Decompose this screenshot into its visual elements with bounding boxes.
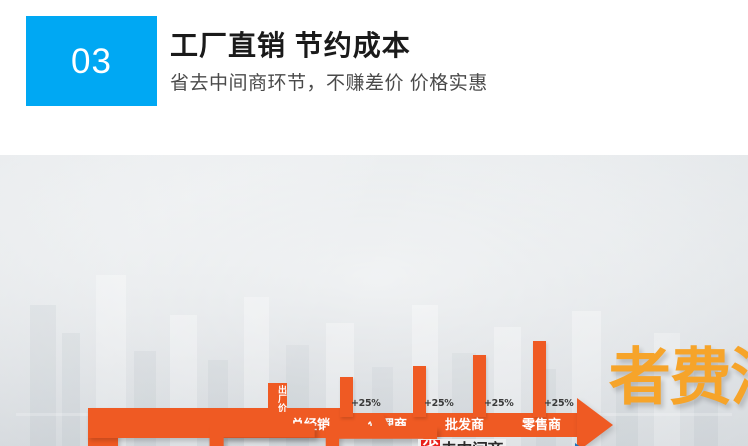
header-text-block: 工厂直销 节约成本 省去中间商环节，不赚差价 价格实惠 — [170, 28, 730, 97]
page-title: 工厂直销 节约成本 — [170, 28, 730, 63]
page-subtitle: 省去中间商环节，不赚差价 价格实惠 — [170, 72, 730, 97]
saving-highlight-char: 省 — [421, 440, 440, 446]
channel-name-3: 批发商 — [445, 419, 484, 432]
step-number-badge: 03 — [26, 16, 157, 106]
manufacturer-word: 厂家 — [193, 417, 441, 446]
step-number-label: 03 — [71, 44, 112, 79]
markup-label-3: +25% — [484, 398, 514, 409]
saving-rest-text: 去中间商 — [441, 442, 503, 446]
infographic-banner: +25% +25% +25% +25% 出厂价 总经销 代理商 批发商 零售商 … — [0, 155, 748, 446]
markup-label-4: +25% — [544, 398, 574, 409]
header-section: 03 工厂直销 节约成本 省去中间商环节，不赚差价 价格实惠 — [0, 0, 748, 155]
channel-name-4: 零售商 — [522, 419, 561, 432]
texture-building — [62, 333, 80, 446]
consumer-word: 消费者 — [603, 344, 748, 446]
skip-middlemen-callout: 省 去中间商 — [418, 439, 506, 446]
texture-building — [30, 305, 56, 446]
